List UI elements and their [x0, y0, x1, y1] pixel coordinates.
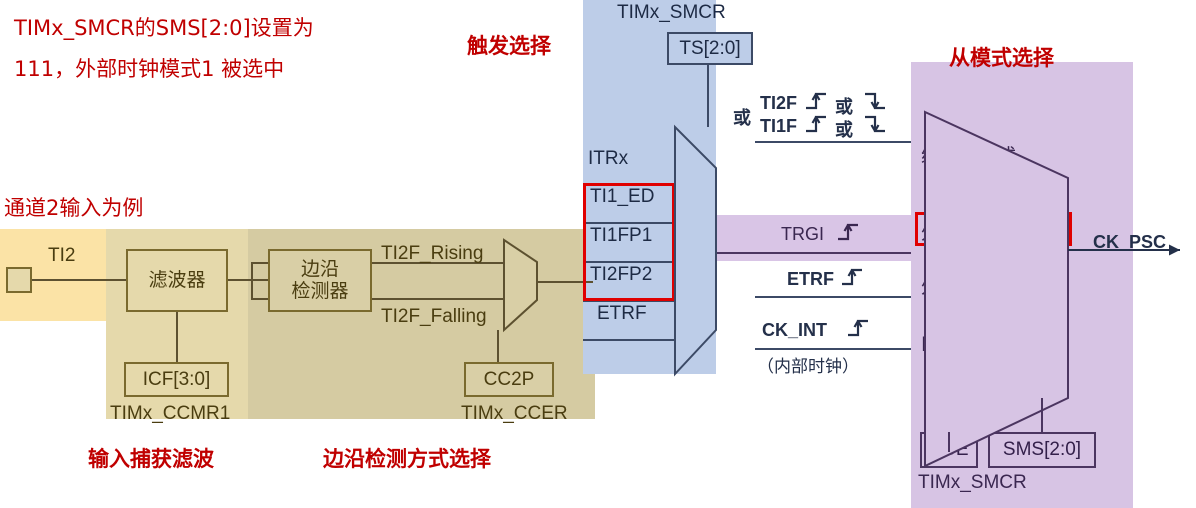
- edge-detector-label-line1: 边沿: [301, 259, 339, 281]
- rising-edge-icon-ti2f: [806, 94, 826, 108]
- mux-input-itrx: ITRx: [588, 148, 628, 170]
- wire-filter-to-edge: [228, 279, 268, 281]
- heading-edge-detect-selection: 边沿检测方式选择: [323, 443, 491, 473]
- mux-code-111: 111: [682, 305, 711, 327]
- slave-mode-internal-clock: 内部时钟模式: [921, 328, 1035, 355]
- input-pin-square: [6, 267, 32, 293]
- label-ti2f: TI2F: [760, 93, 797, 114]
- note-sms-setting-line1: TIMx_SMCR的SMS[2:0]设置为: [14, 12, 314, 42]
- mux-code-101: 101: [682, 238, 714, 260]
- label-ti2: TI2: [48, 245, 75, 267]
- mux-input-etrf: ETRF: [597, 303, 647, 325]
- label-ti2f-falling: TI2F_Falling: [381, 306, 487, 328]
- note-internal-clock: （内部时钟）: [757, 352, 859, 377]
- mux-input-label-0: 0: [510, 254, 521, 277]
- cc2p-register-box: CC2P: [464, 362, 554, 397]
- ece-register-box: ECE: [920, 432, 978, 468]
- note-sms-setting-line2: 111，外部时钟模式1 被选中: [14, 53, 284, 83]
- label-ti2f-rising: TI2F_Rising: [381, 243, 483, 265]
- label-timx-ccer: TIMx_CCER: [461, 403, 568, 425]
- mux-code-110: 110: [682, 277, 712, 299]
- sms-register-box: SMS[2:0]: [988, 432, 1096, 468]
- wire-mux-to-cc2p: [497, 330, 499, 362]
- wire-trgi-to-slave: [716, 252, 911, 254]
- wire-ckint-to-slave: [755, 348, 911, 350]
- wire-etrf-to-slave: [755, 296, 911, 298]
- label-timx-ccmr1: TIMx_CCMR1: [110, 403, 230, 425]
- label-ck-psc: CK_PSC: [1093, 232, 1166, 253]
- wire-ti-edges-to-slave: [755, 141, 911, 143]
- label-or-ti1f: 或: [835, 116, 853, 142]
- label-ti1f: TI1F: [760, 116, 797, 137]
- falling-edge-icon-ti1f: [865, 117, 885, 131]
- edge-detector-label-line2: 检测器: [291, 281, 348, 303]
- label-etrf-signal: ETRF: [787, 269, 834, 290]
- rising-edge-icon-etrf: [842, 270, 862, 284]
- slave-mode-encoder: 编码器模式: [921, 141, 1016, 168]
- mux-code-100: 100: [682, 200, 714, 222]
- ck-psc-arrowhead: [1169, 245, 1180, 256]
- label-timx-smcr-bottom: TIMx_SMCR: [918, 472, 1027, 494]
- note-channel2-example: 通道2输入为例: [4, 192, 143, 222]
- heading-slave-mode-selection: 从模式选择: [949, 42, 1054, 72]
- slave-mode-ext-clock-2: 外部时钟模式 2: [921, 272, 1053, 299]
- wire-ts-to-mux: [707, 65, 709, 127]
- diagram-canvas: TIMx_SMCR的SMS[2:0]设置为 111，外部时钟模式1 被选中 通道…: [0, 0, 1196, 508]
- heading-input-capture-filter: 输入捕获滤波: [88, 443, 214, 473]
- wire-pin-to-filter: [32, 279, 126, 281]
- mux-code-0xx: 0xx: [682, 163, 712, 185]
- label-ck-int: CK_INT: [762, 320, 827, 341]
- icf-register-box: ICF[3:0]: [124, 362, 229, 397]
- label-trgi: TRGI: [781, 224, 824, 245]
- edge-detector-block: 边沿 检测器: [268, 249, 372, 312]
- ts-register-box: TS[2:0]: [667, 32, 753, 65]
- wire-ti2f-falling: [372, 298, 504, 300]
- highlight-box-ext-clock-mode-1: [915, 212, 1072, 246]
- filter-block: 滤波器: [126, 249, 228, 312]
- heading-trigger-selection: 触发选择: [467, 30, 551, 60]
- label-or-prefix: 或: [733, 104, 751, 130]
- mux-input-label-1: 1: [510, 289, 521, 312]
- label-timx-smcr-top: TIMx_SMCR: [617, 2, 726, 24]
- rising-edge-icon-ckint: [848, 321, 868, 335]
- wire-etrf: [583, 339, 675, 341]
- falling-edge-icon-ti2f: [865, 94, 885, 108]
- rising-edge-icon-ti1f: [806, 117, 826, 131]
- wire-filter-to-icf: [176, 312, 178, 362]
- highlight-box-trigger-inputs: [583, 183, 675, 301]
